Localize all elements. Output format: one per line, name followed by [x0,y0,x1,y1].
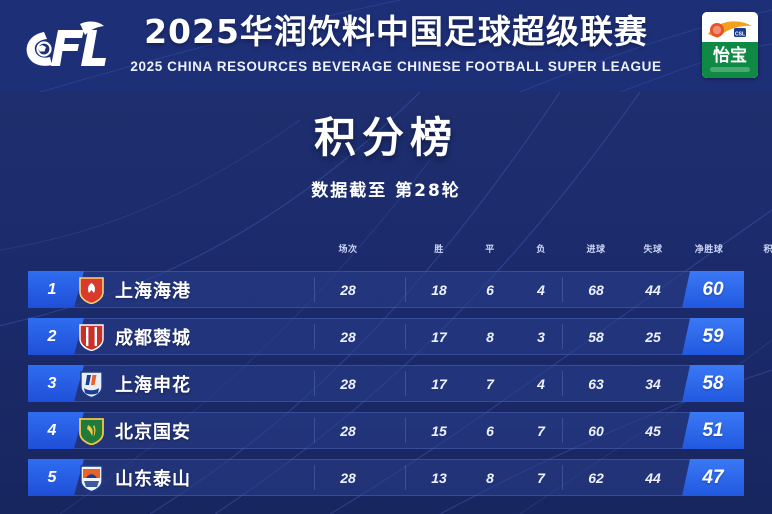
club-name: 上海海港 [115,271,191,308]
standings-heading: 积分榜 [0,112,772,164]
column-headers: 场次 胜 平 负 进球 失球 净胜球 积分 [0,238,772,266]
col-header-win: 胜 [434,242,444,255]
sponsor-badge-text: CSL [735,32,745,38]
cell-loss: 4 [521,365,561,402]
cell-ga: 44 [633,271,673,308]
cell-win: 13 [419,459,459,496]
cell-gf: 62 [576,459,616,496]
col-header-loss: 负 [536,242,546,255]
cell-played: 28 [328,412,368,449]
cell-ga: 34 [633,365,673,402]
col-header-ga: 失球 [643,242,662,255]
cell-loss: 7 [521,412,561,449]
sponsor-name-text: 怡宝 [713,45,747,66]
cell-gf: 58 [576,318,616,355]
cell-draw: 8 [470,318,510,355]
header-banner: 2025华润饮料中国足球超级联赛 2025 CHINA RESOURCES BE… [0,0,772,92]
cell-points: 51 [682,412,744,449]
cell-draw: 6 [470,412,510,449]
cell-ga: 44 [633,459,673,496]
club-crest-shanghai-port [78,276,105,304]
col-header-played: 场次 [338,242,357,255]
cfl-logo [22,16,110,74]
league-title-en: 2025 CHINA RESOURCES BEVERAGE CHINESE FO… [116,57,676,77]
club-name: 北京国安 [115,412,191,449]
cell-gf: 63 [576,365,616,402]
cell-win: 17 [419,365,459,402]
table-row[interactable]: 5 山东泰山 28 13 8 7 62 44 18 47 [0,454,772,501]
cell-loss: 3 [521,318,561,355]
cell-win: 15 [419,412,459,449]
club-name: 山东泰山 [115,459,191,496]
sponsor-logo: CSL 怡宝 [702,12,758,78]
cell-points: 58 [682,365,744,402]
club-name: 上海申花 [115,365,191,402]
col-header-gd: 净胜球 [695,242,724,255]
cell-ga: 45 [633,412,673,449]
cell-points: 60 [682,271,744,308]
standings-subheading: 数据截至 第28轮 [0,176,772,201]
cell-played: 28 [328,271,368,308]
cell-points: 47 [682,459,744,496]
cell-played: 28 [328,365,368,402]
col-header-points: 积分 [763,242,772,255]
cell-gf: 60 [576,412,616,449]
club-crest-shandong-taishan [78,464,105,492]
col-header-draw: 平 [485,242,495,255]
cell-win: 18 [419,271,459,308]
club-crest-beijing-guoan [78,417,105,445]
col-header-gf: 进球 [586,242,605,255]
league-title-cn: 2025华润饮料中国足球超级联赛 [116,10,676,54]
cell-gf: 68 [576,271,616,308]
cell-draw: 8 [470,459,510,496]
cell-loss: 7 [521,459,561,496]
table-row[interactable]: 4 北京国安 28 15 6 7 60 45 15 51 [0,407,772,454]
cell-played: 28 [328,459,368,496]
page-title: 积分榜 数据截至 第28轮 [0,112,772,201]
table-row[interactable]: 2 成都蓉城 28 17 8 3 58 25 33 59 [0,313,772,360]
cell-draw: 6 [470,271,510,308]
cell-played: 28 [328,318,368,355]
club-name: 成都蓉城 [115,318,191,355]
standings-table: 场次 胜 平 负 进球 失球 净胜球 积分 1 上海海港 28 18 6 4 6… [0,238,772,501]
cell-win: 17 [419,318,459,355]
cell-loss: 4 [521,271,561,308]
league-title-block: 2025华润饮料中国足球超级联赛 2025 CHINA RESOURCES BE… [116,10,676,77]
club-crest-chengdu-rongcheng [78,323,105,351]
cell-ga: 25 [633,318,673,355]
club-crest-shanghai-shenhua [78,370,105,398]
table-row[interactable]: 1 上海海港 28 18 6 4 68 44 24 60 [0,266,772,313]
cell-draw: 7 [470,365,510,402]
cell-points: 59 [682,318,744,355]
table-row[interactable]: 3 上海申花 28 17 7 4 63 34 29 58 [0,360,772,407]
